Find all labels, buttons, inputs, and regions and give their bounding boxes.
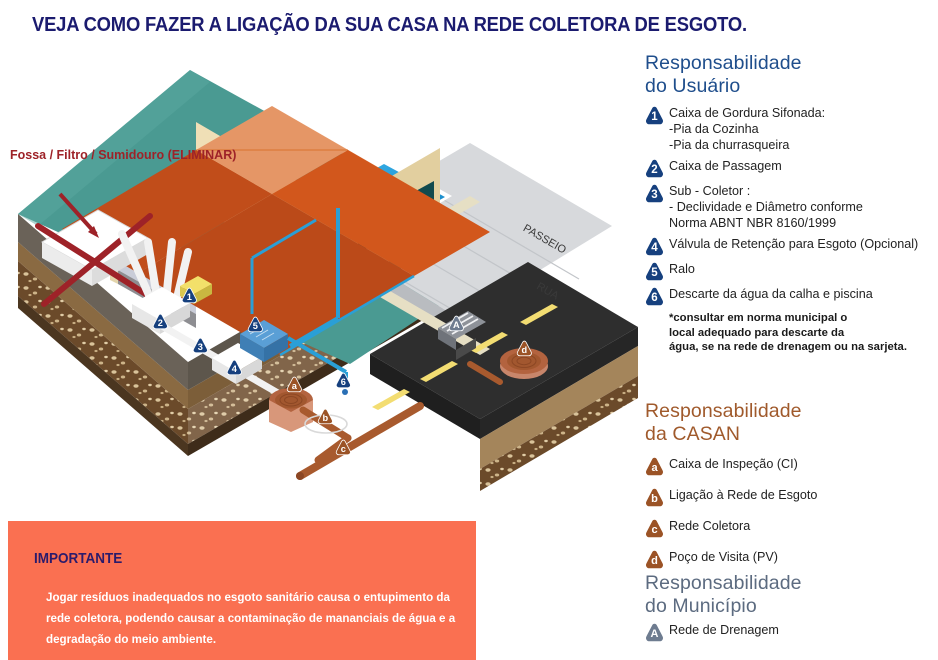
legend-badge-label: c: [645, 519, 664, 538]
legend-badge-a-icon: a: [645, 457, 664, 476]
legend-badge-label: 5: [645, 262, 664, 281]
infographic-page: VEJA COMO FAZER A LIGAÇÃO DA SUA CASA NA…: [0, 0, 938, 660]
fossa-warning-label: Fossa / Filtro / Sumidouro (ELIMINAR): [10, 148, 236, 163]
legend-heading-user: Responsabilidade do Usuário: [645, 52, 938, 98]
diagram-marker-label: a: [292, 381, 298, 391]
legend-item[interactable]: 2Caixa de Passagem: [645, 158, 938, 178]
diagram-marker-3: 3: [193, 338, 207, 353]
diagram-marker-label: 4: [232, 364, 238, 374]
diagram-marker-b: b: [318, 409, 332, 424]
legend-item-label: Descarte da água da calha e piscina: [669, 286, 873, 302]
legend-item[interactable]: 5Ralo: [645, 261, 938, 281]
legend-item-label: Sub - Coletor : - Declividade e Diâmetro…: [669, 183, 863, 231]
legend-badge-label: d: [645, 550, 664, 569]
legend-badge-label: A: [645, 623, 664, 642]
legend-items-user: 1Caixa de Gordura Sifonada: -Pia da Cozi…: [645, 105, 938, 306]
legend-item[interactable]: dPoço de Visita (PV): [645, 549, 938, 569]
legend-item[interactable]: 1Caixa de Gordura Sifonada: -Pia da Cozi…: [645, 105, 938, 153]
legend-badge-1-icon: 1: [645, 106, 664, 125]
legend-badge-label: 6: [645, 287, 664, 306]
legend-item-label: Poço de Visita (PV): [669, 549, 778, 565]
important-callout: IMPORTANTE Jogar resíduos inadequados no…: [8, 521, 476, 660]
legend-badge-label: 3: [645, 184, 664, 203]
legend-item-label: Caixa de Gordura Sifonada: -Pia da Cozin…: [669, 105, 825, 153]
diagram-marker-label: 6: [341, 377, 346, 387]
legend-item-label: Ralo: [669, 261, 695, 277]
legend-item[interactable]: cRede Coletora: [645, 518, 938, 538]
legend-item[interactable]: 4Válvula de Retenção para Esgoto (Opcion…: [645, 236, 938, 256]
legend-heading-casan: Responsabilidade da CASAN: [645, 400, 938, 446]
legend-section-city: Responsabilidade do Município ARede de D…: [645, 572, 938, 646]
diagram-marker-label: 1: [187, 292, 192, 302]
important-heading: IMPORTANTE: [34, 550, 122, 567]
diagram-marker-label: A: [453, 320, 460, 330]
legend-badge-a-icon: A: [645, 623, 664, 642]
legend-badge-label: a: [645, 457, 664, 476]
legend-item-label: Caixa de Passagem: [669, 158, 782, 174]
legend-badge-c-icon: c: [645, 519, 664, 538]
diagram-marker-label: 5: [253, 321, 258, 331]
legend-badge-5-icon: 5: [645, 262, 664, 281]
important-body: Jogar resíduos inadequados no esgoto san…: [46, 587, 466, 650]
diagram-marker-label: 2: [158, 318, 163, 328]
legend-panel: Responsabilidade do Usuário 1Caixa de Go…: [640, 0, 938, 660]
diagram-marker-label: d: [522, 345, 528, 355]
legend-item-label: Caixa de Inspeção (CI): [669, 456, 798, 472]
legend-item[interactable]: aCaixa de Inspeção (CI): [645, 456, 938, 476]
legend-badge-b-icon: b: [645, 488, 664, 507]
legend-badge-d-icon: d: [645, 550, 664, 569]
legend-item[interactable]: 6Descarte da água da calha e piscina: [645, 286, 938, 306]
legend-badge-6-icon: 6: [645, 287, 664, 306]
legend-section-user: Responsabilidade do Usuário 1Caixa de Go…: [645, 52, 938, 355]
legend-heading-city: Responsabilidade do Município: [645, 572, 938, 618]
legend-badge-label: 1: [645, 106, 664, 125]
sewer-connection-diagram: PISCINA: [0, 46, 640, 516]
legend-items-casan: aCaixa de Inspeção (CI)bLigação à Rede d…: [645, 456, 938, 569]
legend-user-note: *consultar em norma municipal o local ad…: [669, 311, 938, 355]
legend-badge-3-icon: 3: [645, 184, 664, 203]
legend-badge-label: 4: [645, 237, 664, 256]
legend-items-city: ARede de Drenagem: [645, 622, 938, 642]
legend-item[interactable]: bLigação à Rede de Esgoto: [645, 487, 938, 507]
diagram-marker-6: 6: [336, 373, 350, 388]
legend-section-casan: Responsabilidade da CASAN aCaixa de Insp…: [645, 400, 938, 580]
legend-badge-label: b: [645, 488, 664, 507]
legend-badge-2-icon: 2: [645, 159, 664, 178]
legend-item-label: Rede de Drenagem: [669, 622, 779, 638]
legend-item[interactable]: ARede de Drenagem: [645, 622, 938, 642]
legend-item-label: Válvula de Retenção para Esgoto (Opciona…: [669, 236, 918, 252]
legend-item[interactable]: 3Sub - Coletor : - Declividade e Diâmetr…: [645, 183, 938, 231]
diagram-marker-label: c: [341, 444, 346, 454]
diagram-marker-label: b: [323, 413, 329, 423]
legend-badge-label: 2: [645, 159, 664, 178]
legend-item-label: Rede Coletora: [669, 518, 750, 534]
legend-item-label: Ligação à Rede de Esgoto: [669, 487, 817, 503]
diagram-marker-label: 3: [198, 342, 203, 352]
legend-badge-4-icon: 4: [645, 237, 664, 256]
